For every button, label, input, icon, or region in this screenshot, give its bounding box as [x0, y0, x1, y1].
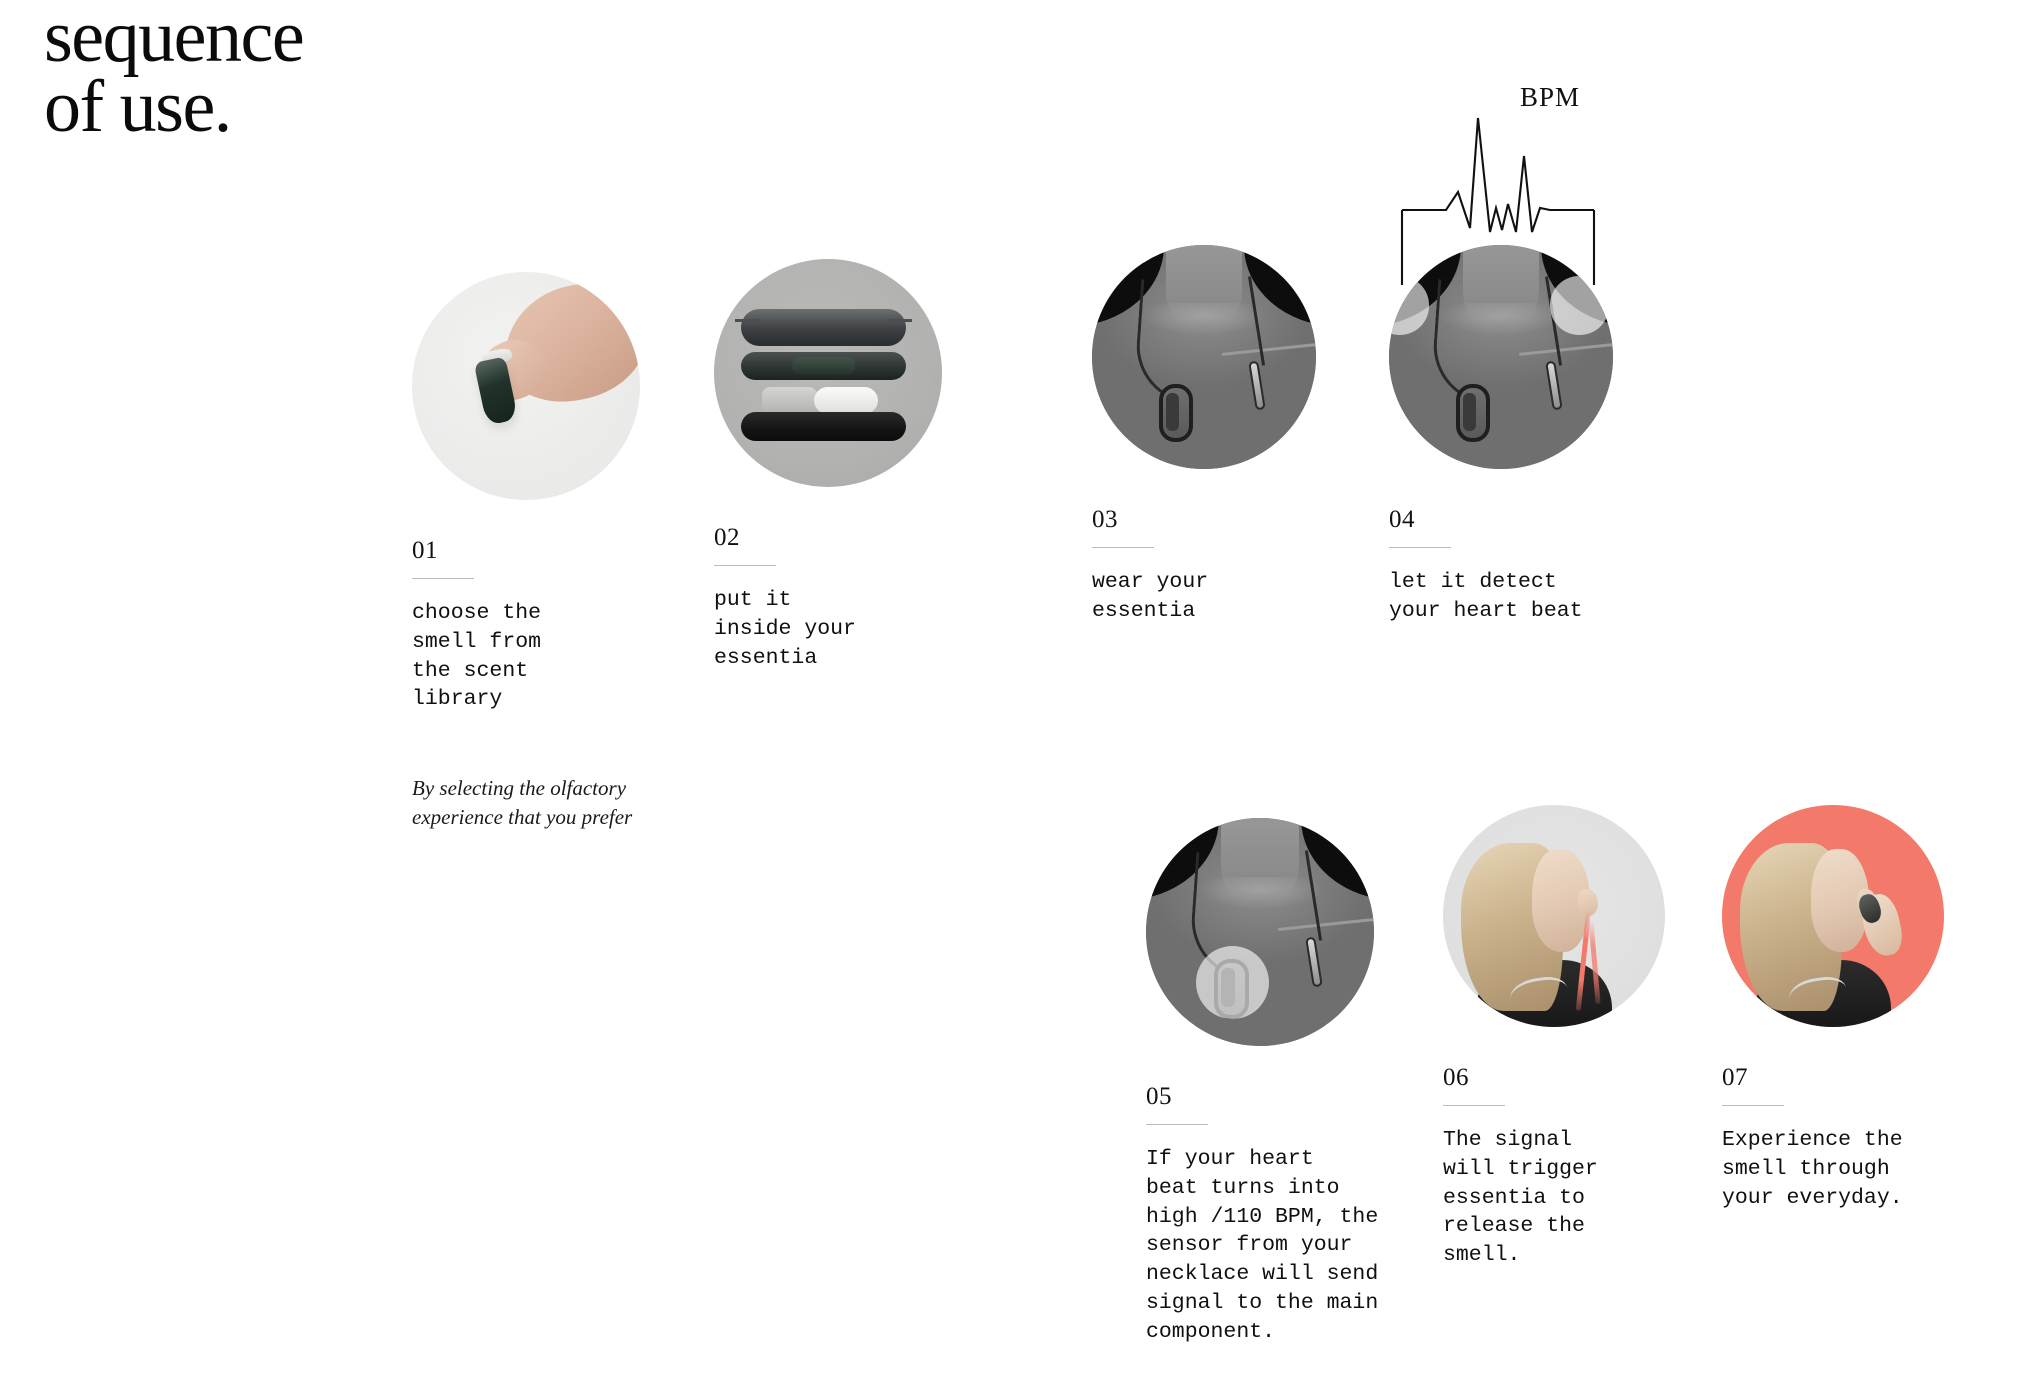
step-07-caption: Experience the smell through your everyd…: [1722, 1126, 1972, 1212]
pendant-highlight-marker: [1196, 946, 1269, 1019]
step-01-caption: choose the smell from the scent library: [412, 599, 652, 714]
step-01-subnote: By selecting the olfactory experience th…: [412, 774, 742, 831]
step-06-caption: The signal will trigger essentia to rele…: [1443, 1126, 1693, 1270]
bpm-annotation: BPM: [1394, 100, 1654, 340]
step-05-rule: [1146, 1124, 1208, 1125]
step-03-rule: [1092, 547, 1154, 548]
step-02-rule: [714, 565, 776, 566]
step-06-rule: [1443, 1105, 1505, 1106]
step-05-number: 05: [1146, 1084, 1446, 1109]
step-07-rule: [1722, 1105, 1784, 1106]
step-04-caption: let it detect your heart beat: [1389, 568, 1649, 626]
step-01-number: 01: [412, 538, 652, 563]
step-03-number: 03: [1092, 507, 1332, 532]
step-06: 06 The signal will trigger essentia to r…: [1443, 805, 1693, 1270]
step-04-number: 04: [1389, 507, 1649, 532]
step-01-rule: [412, 578, 474, 579]
step-03-caption: wear your essentia: [1092, 568, 1332, 626]
step-02-image: [714, 259, 942, 487]
step-02-number: 02: [714, 525, 954, 550]
step-07-image: [1722, 805, 1944, 1027]
step-02-caption: put it inside your essentia: [714, 586, 954, 672]
step-06-number: 06: [1443, 1065, 1693, 1090]
step-05-caption: If your heart beat turns into high /110 …: [1146, 1145, 1446, 1347]
bpm-label: BPM: [1520, 82, 1580, 113]
step-07: 07 Experience the smell through your eve…: [1722, 805, 1972, 1212]
ecg-waveform-icon: [1394, 100, 1654, 340]
step-03-image: [1092, 245, 1316, 469]
step-04-rule: [1389, 547, 1451, 548]
step-01: 01 choose the smell from the scent libra…: [412, 272, 652, 714]
step-01-image: [412, 272, 640, 500]
step-03: 03 wear your essentia: [1092, 245, 1332, 626]
step-07-number: 07: [1722, 1065, 1972, 1090]
step-06-image: [1443, 805, 1665, 1027]
step-05-image: [1146, 818, 1374, 1046]
step-02: 02 put it inside your essentia: [714, 259, 954, 672]
step-05: 05 If your heart beat turns into high /1…: [1146, 818, 1446, 1347]
sequence-of-use-page: sequence of use. 01 choose the smell fro…: [0, 0, 2026, 1386]
page-title: sequence of use.: [44, 2, 303, 143]
